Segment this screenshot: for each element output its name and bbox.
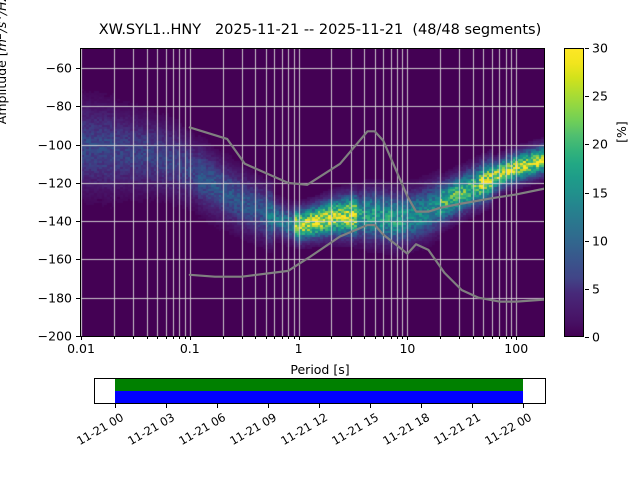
x-axis-label: Period [s] xyxy=(0,362,640,377)
x-tick-mark xyxy=(407,336,408,340)
x-tick-mark xyxy=(473,336,474,339)
x-tick-label: 0.01 xyxy=(67,341,95,356)
x-tick-mark xyxy=(294,336,295,339)
colorbar-label: [%] xyxy=(614,72,629,192)
y-tick-label: −100 xyxy=(36,137,72,152)
timeline-tick-mark xyxy=(421,404,422,408)
x-tick-mark xyxy=(459,336,460,339)
colorbar-tick-mark xyxy=(585,337,589,338)
y-tick-mark xyxy=(76,183,80,184)
x-tick-label: 1 xyxy=(295,341,303,356)
timeline-tick-mark xyxy=(217,404,218,408)
noise-model-curves xyxy=(81,49,544,336)
coverage-bar-green xyxy=(115,379,523,391)
data-coverage-timeline[interactable] xyxy=(94,378,546,404)
y-tick-label: −60 xyxy=(36,61,72,76)
y-tick-mark xyxy=(76,145,80,146)
x-tick-mark xyxy=(255,336,256,339)
x-tick-mark xyxy=(179,336,180,339)
colorbar-tick-label: 0 xyxy=(592,330,600,345)
x-tick-mark xyxy=(506,336,507,339)
colorbar-tick-mark xyxy=(585,241,589,242)
coverage-bar-blue xyxy=(115,391,523,403)
y-tick-label: −80 xyxy=(36,99,72,114)
page-title: XW.SYL1..HNY 2025-11-21 -- 2025-11-21 (4… xyxy=(0,22,640,38)
y-tick-mark xyxy=(76,298,80,299)
y-tick-mark xyxy=(76,68,80,69)
y-tick-label: −160 xyxy=(36,252,72,267)
y-tick-label: −180 xyxy=(36,290,72,305)
colorbar-tick-mark xyxy=(585,96,589,97)
x-tick-label: 100 xyxy=(504,341,528,356)
timeline-tick-mark xyxy=(523,404,524,408)
timeline-tick-mark xyxy=(319,404,320,408)
colorbar-tick-label: 20 xyxy=(592,137,608,152)
x-tick-label: 0.1 xyxy=(180,341,200,356)
y-tick-mark xyxy=(76,336,80,337)
colorbar-tick-label: 10 xyxy=(592,233,608,248)
timeline-tick-mark xyxy=(115,404,116,408)
x-tick-mark xyxy=(282,336,283,339)
y-tick-mark xyxy=(76,106,80,107)
x-tick-mark xyxy=(147,336,148,339)
colorbar-tick-label: 25 xyxy=(592,89,608,104)
colorbar-tick-label: 30 xyxy=(592,41,608,56)
x-tick-mark xyxy=(397,336,398,339)
colorbar-tick-label: 15 xyxy=(592,185,608,200)
x-tick-mark xyxy=(331,336,332,339)
colorbar-tick-mark xyxy=(585,144,589,145)
x-tick-mark xyxy=(364,336,365,339)
x-tick-mark xyxy=(511,336,512,339)
timeline-tick-mark xyxy=(472,404,473,408)
ppsd-plot-axes[interactable] xyxy=(80,48,545,337)
x-tick-mark xyxy=(190,336,191,340)
colorbar-tick-mark xyxy=(585,193,589,194)
x-tick-mark xyxy=(166,336,167,339)
x-tick-mark xyxy=(81,336,82,340)
x-tick-label: 10 xyxy=(399,341,415,356)
x-tick-mark xyxy=(492,336,493,339)
y-tick-label: −120 xyxy=(36,175,72,190)
timeline-tick-mark xyxy=(166,404,167,408)
colorbar-tick-mark xyxy=(585,289,589,290)
x-tick-mark xyxy=(499,336,500,339)
x-tick-mark xyxy=(185,336,186,339)
x-tick-mark xyxy=(173,336,174,339)
x-tick-mark xyxy=(133,336,134,339)
x-tick-mark xyxy=(242,336,243,339)
x-tick-mark xyxy=(299,336,300,340)
ppsd-density-canvas xyxy=(81,49,544,336)
ppsd-figure: XW.SYL1..HNY 2025-11-21 -- 2025-11-21 (4… xyxy=(0,0,640,480)
timeline-tick-mark xyxy=(268,404,269,408)
x-tick-mark xyxy=(440,336,441,339)
x-tick-mark xyxy=(391,336,392,339)
x-tick-mark xyxy=(223,336,224,339)
x-tick-mark xyxy=(402,336,403,339)
y-tick-mark xyxy=(76,259,80,260)
x-tick-mark xyxy=(157,336,158,339)
x-tick-mark xyxy=(483,336,484,339)
x-tick-mark xyxy=(383,336,384,339)
y-tick-mark xyxy=(76,221,80,222)
x-tick-mark xyxy=(114,336,115,339)
x-tick-mark xyxy=(351,336,352,339)
colorbar-tick-label: 5 xyxy=(592,281,600,296)
colorbar xyxy=(564,48,584,337)
y-tick-label: −140 xyxy=(36,214,72,229)
y-axis-label: Amplitude [m2/s4/Hz] [dB] xyxy=(0,0,9,192)
timeline-tick-mark xyxy=(370,404,371,408)
x-tick-mark xyxy=(288,336,289,339)
x-tick-mark xyxy=(274,336,275,339)
colorbar-tick-mark xyxy=(585,48,589,49)
x-tick-mark xyxy=(266,336,267,339)
x-tick-mark xyxy=(516,336,517,340)
x-tick-mark xyxy=(375,336,376,339)
